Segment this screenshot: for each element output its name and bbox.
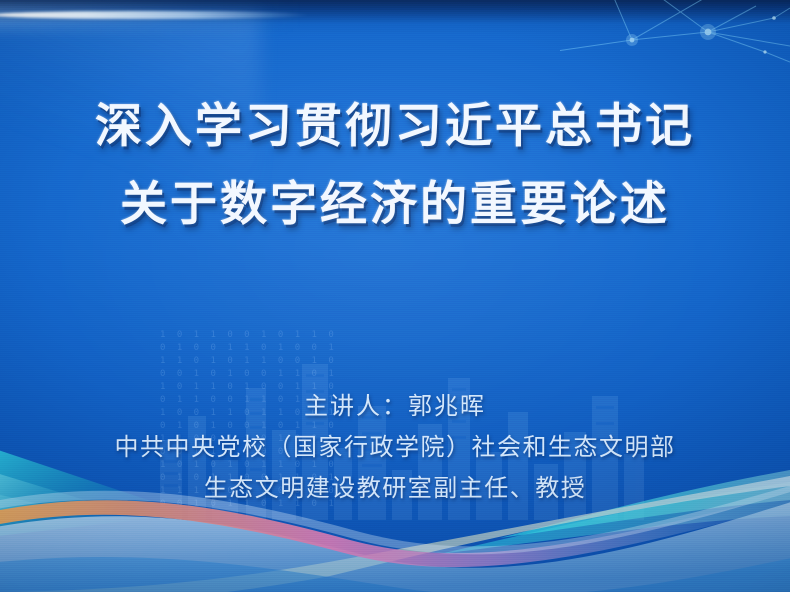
title-block: 深入学习贯彻习近平总书记 关于数字经济的重要论述 — [0, 88, 790, 244]
presentation-slide: 1 0 1 1 0 0 1 0 1 1 0 0 1 0 0 1 1 0 1 0 … — [0, 0, 790, 592]
title-line-1: 深入学习贯彻习近平总书记 — [0, 88, 790, 166]
title-line-2: 关于数字经济的重要论述 — [0, 166, 790, 244]
glare-streak-icon — [0, 11, 310, 19]
decorative-wave-ribbons — [0, 442, 790, 592]
presenter-name: 主讲人：郭兆晖 — [0, 386, 790, 427]
